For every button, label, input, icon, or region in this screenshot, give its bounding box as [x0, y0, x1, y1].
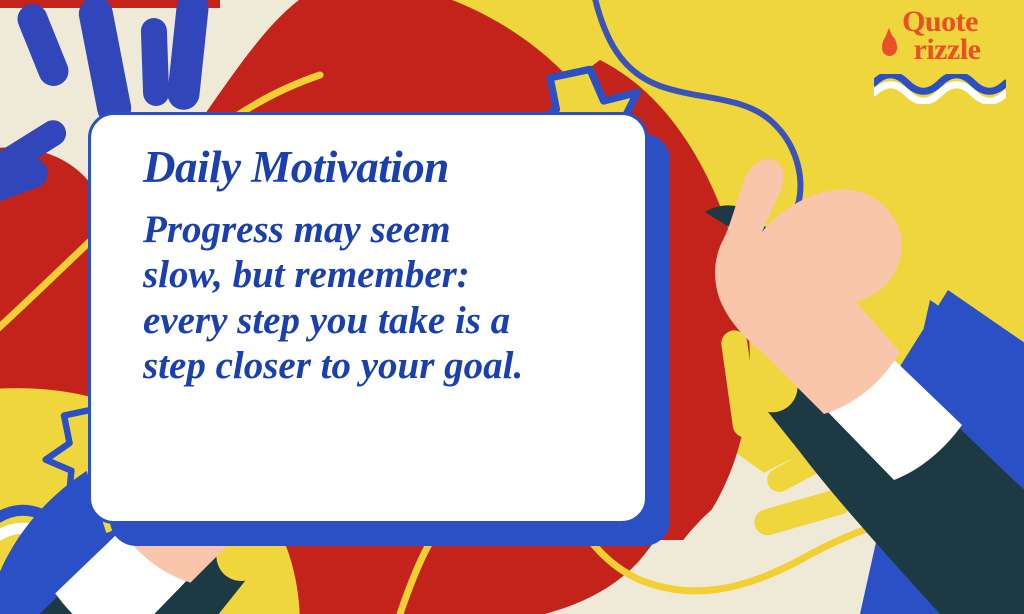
- quote-text: Progress may seem slow, but remember: ev…: [143, 207, 611, 390]
- quote-card-inner: Daily Motivation Progress may seem slow,…: [91, 115, 645, 521]
- quote-line: Progress may seem: [143, 208, 451, 251]
- brand-logo[interactable]: Quote rizzle: [870, 8, 1010, 108]
- water-drop-icon: [882, 35, 897, 56]
- quote-line: step closer to your goal.: [143, 344, 523, 387]
- logo-wordmark: Quote rizzle: [870, 8, 1010, 63]
- quote-line: every step you take is a: [143, 299, 510, 342]
- quote-card: Daily Motivation Progress may seem slow,…: [88, 112, 648, 524]
- wave-underline-icon: [874, 74, 1006, 104]
- page-title: Daily Motivation: [143, 143, 611, 193]
- quote-poster: Daily Motivation Progress may seem slow,…: [0, 0, 1024, 614]
- quote-line: slow, but remember:: [143, 253, 470, 296]
